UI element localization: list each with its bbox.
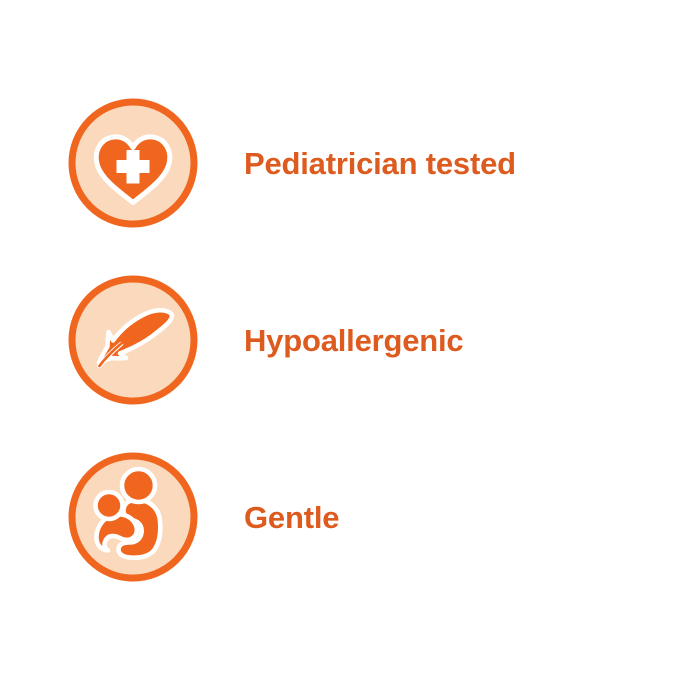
product-benefit-badges: Pediatrician tested Hypoallergenic	[0, 0, 679, 679]
badge-gentle	[68, 452, 198, 582]
benefit-item-pediatrician-tested: Pediatrician tested	[0, 83, 679, 243]
mother-baby-icon	[68, 452, 198, 582]
feather-icon	[68, 275, 198, 405]
benefit-label-pediatrician-tested: Pediatrician tested	[244, 148, 516, 179]
benefit-label-gentle: Gentle	[244, 502, 339, 533]
heart-cross-icon	[68, 98, 198, 228]
benefit-label-hypoallergenic: Hypoallergenic	[244, 325, 463, 356]
badge-pediatrician-tested	[68, 98, 198, 228]
benefit-item-gentle: Gentle	[0, 437, 679, 597]
badge-hypoallergenic	[68, 275, 198, 405]
benefit-item-hypoallergenic: Hypoallergenic	[0, 260, 679, 420]
